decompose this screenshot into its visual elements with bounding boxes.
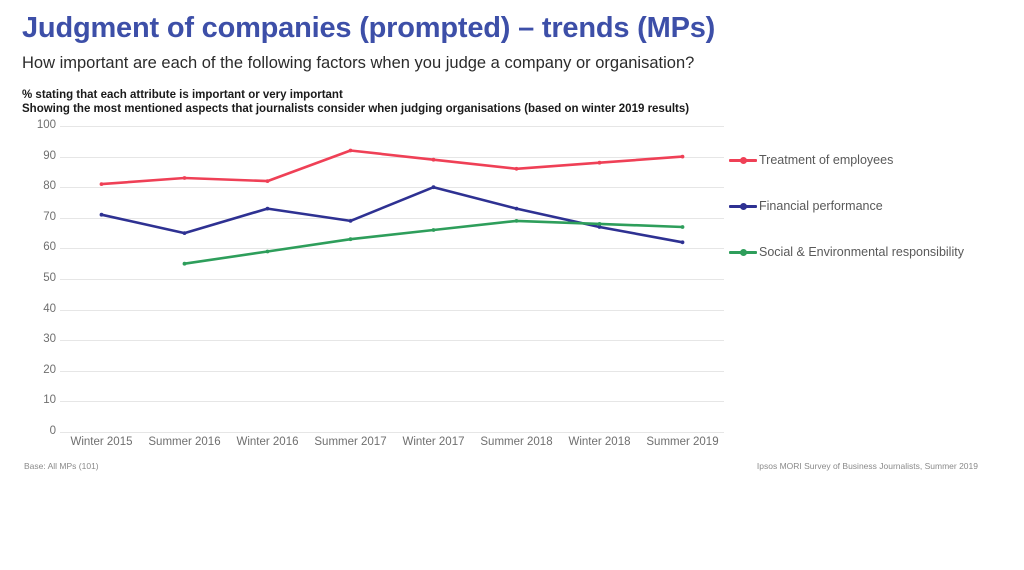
data-point[interactable] bbox=[515, 219, 519, 223]
x-axis-tick-label: Winter 2018 bbox=[558, 436, 641, 448]
data-point[interactable] bbox=[349, 149, 353, 153]
data-point[interactable] bbox=[100, 182, 104, 186]
legend-line-icon bbox=[729, 247, 757, 257]
legend-label: Treatment of employees bbox=[759, 153, 893, 167]
page-title: Judgment of companies (prompted) – trend… bbox=[22, 12, 715, 45]
x-axis-tick-label: Summer 2019 bbox=[641, 436, 724, 448]
data-point[interactable] bbox=[515, 167, 519, 171]
base-note: Base: All MPs (101) bbox=[24, 461, 99, 471]
data-point[interactable] bbox=[515, 207, 519, 211]
legend-line-icon bbox=[729, 155, 757, 165]
legend-line-icon bbox=[729, 201, 757, 211]
y-axis-tick-label: 40 bbox=[0, 303, 56, 315]
gridline bbox=[60, 432, 724, 433]
data-point[interactable] bbox=[349, 237, 353, 241]
data-point[interactable] bbox=[681, 240, 685, 244]
data-point[interactable] bbox=[432, 185, 436, 189]
data-point[interactable] bbox=[266, 179, 270, 183]
data-point[interactable] bbox=[681, 155, 685, 159]
chart-series-layer bbox=[60, 126, 724, 432]
y-axis-tick-label: 80 bbox=[0, 180, 56, 192]
data-point[interactable] bbox=[598, 222, 602, 226]
x-axis-tick-label: Summer 2016 bbox=[143, 436, 226, 448]
y-axis-tick-label: 100 bbox=[0, 119, 56, 131]
y-axis-tick-label: 70 bbox=[0, 211, 56, 223]
data-point[interactable] bbox=[266, 250, 270, 254]
data-point[interactable] bbox=[598, 161, 602, 165]
data-point[interactable] bbox=[432, 228, 436, 232]
question-text: How important are each of the following … bbox=[22, 54, 694, 73]
data-point[interactable] bbox=[100, 213, 104, 217]
y-axis-tick-label: 90 bbox=[0, 150, 56, 162]
data-point[interactable] bbox=[183, 176, 187, 180]
legend-item-financial-performance[interactable]: Financial performance bbox=[729, 199, 883, 213]
y-axis-tick-label: 10 bbox=[0, 394, 56, 406]
y-axis-tick-label: 30 bbox=[0, 333, 56, 345]
y-axis-tick-label: 0 bbox=[0, 425, 56, 437]
data-point[interactable] bbox=[432, 158, 436, 162]
x-axis-tick-label: Summer 2018 bbox=[475, 436, 558, 448]
legend-label: Social & Environmental responsibility bbox=[759, 245, 964, 259]
x-axis-tick-label: Winter 2015 bbox=[60, 436, 143, 448]
legend-item-treatment-of-employees[interactable]: Treatment of employees bbox=[729, 153, 893, 167]
y-axis-tick-label: 50 bbox=[0, 272, 56, 284]
slide: Judgment of companies (prompted) – trend… bbox=[0, 0, 1024, 570]
legend-label: Financial performance bbox=[759, 199, 883, 213]
line-chart: 1009080706050403020100 Winter 2015Summer… bbox=[24, 126, 724, 442]
x-axis-labels: Winter 2015Summer 2016Winter 2016Summer … bbox=[60, 436, 724, 448]
data-point[interactable] bbox=[349, 219, 353, 223]
kicker-line-1: % stating that each attribute is importa… bbox=[22, 88, 689, 102]
y-axis-tick-label: 20 bbox=[0, 364, 56, 376]
x-axis-tick-label: Summer 2017 bbox=[309, 436, 392, 448]
chart-kicker: % stating that each attribute is importa… bbox=[22, 88, 689, 116]
source-note: Ipsos MORI Survey of Business Journalist… bbox=[757, 461, 978, 471]
kicker-line-2: Showing the most mentioned aspects that … bbox=[22, 102, 689, 116]
x-axis-tick-label: Winter 2017 bbox=[392, 436, 475, 448]
data-point[interactable] bbox=[183, 231, 187, 235]
y-axis-tick-label: 60 bbox=[0, 241, 56, 253]
x-axis-tick-label: Winter 2016 bbox=[226, 436, 309, 448]
data-point[interactable] bbox=[183, 262, 187, 266]
data-point[interactable] bbox=[681, 225, 685, 229]
series-line bbox=[102, 151, 683, 185]
legend-item-social-environmental-responsibility[interactable]: Social & Environmental responsibility bbox=[729, 245, 964, 259]
data-point[interactable] bbox=[266, 207, 270, 211]
